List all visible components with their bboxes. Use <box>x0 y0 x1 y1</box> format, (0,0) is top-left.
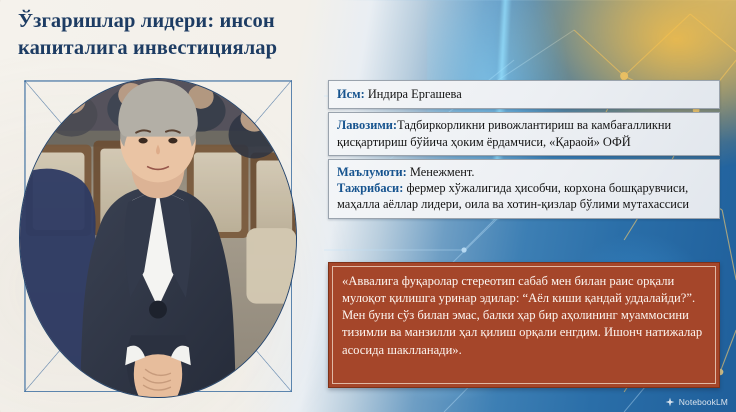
slide-title: Ўзгаришлар лидери: инсон капиталига инве… <box>18 8 348 63</box>
education-value: Менежмент. <box>410 165 475 179</box>
notebooklm-watermark: NotebookLM <box>665 397 728 407</box>
education-row: Маълумоти: Менежмент. <box>337 164 711 180</box>
portrait-photo <box>19 78 297 398</box>
portrait-illustration <box>20 79 296 397</box>
watermark-label: NotebookLM <box>679 397 728 407</box>
portrait-frame <box>14 74 302 402</box>
presentation-slide: Ўзгаришлар лидери: инсон капиталига инве… <box>0 0 736 412</box>
profile-info-card: Исм: Индира Ергашева Лавозими:Тадбиркорл… <box>328 80 720 222</box>
position-label: Лавозими: <box>337 118 397 132</box>
name-value: Индира Ергашева <box>368 87 462 101</box>
education-label: Маълумоти: <box>337 165 407 179</box>
quote-box: «Аввалига фуқаролар стереотип сабаб мен … <box>328 262 720 388</box>
name-label: Исм: <box>337 87 365 101</box>
info-panel-education-experience: Маълумоти: Менежмент. Тажрибаси: фермер … <box>328 159 720 219</box>
info-panel-position: Лавозими:Тадбиркорликни ривожлантириш ва… <box>328 112 720 156</box>
experience-label: Тажрибаси: <box>337 181 403 195</box>
experience-row: Тажрибаси: фермер хўжалигида ҳисобчи, ко… <box>337 180 711 213</box>
notebooklm-icon <box>665 397 675 407</box>
quote-text: «Аввалига фуқаролар стереотип сабаб мен … <box>332 266 716 384</box>
info-panel-name: Исм: Индира Ергашева <box>328 80 720 109</box>
